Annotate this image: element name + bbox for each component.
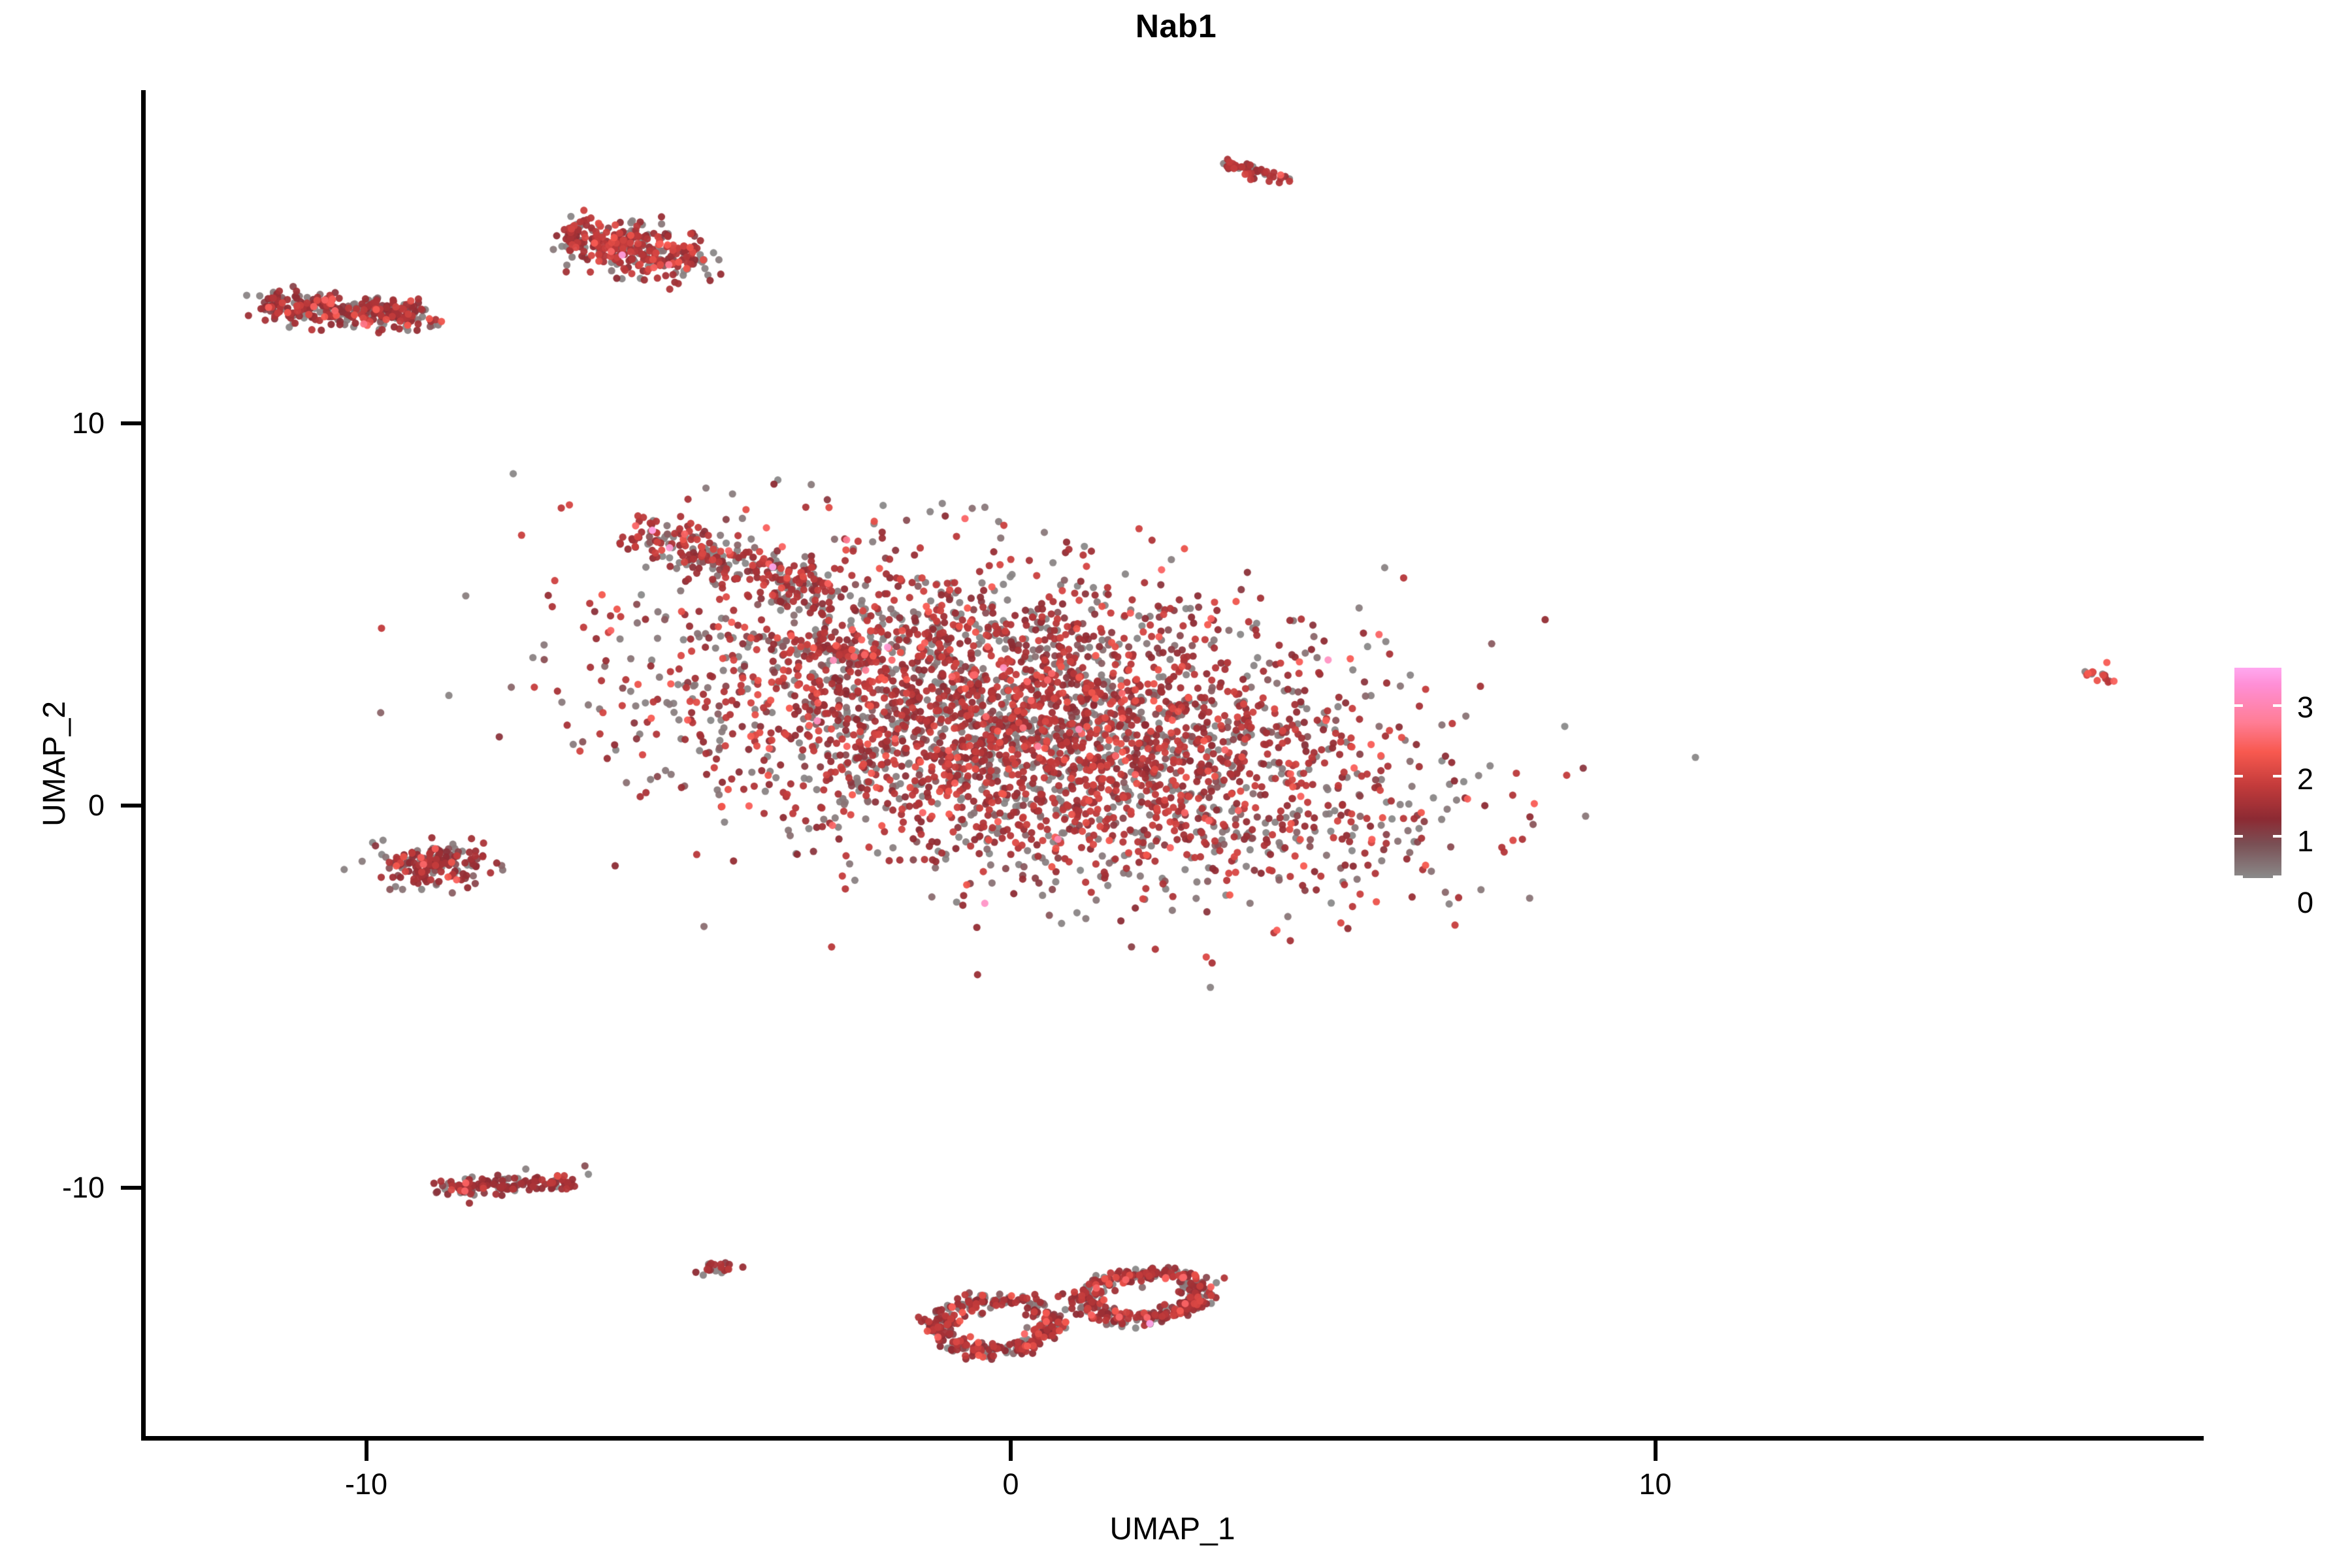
x-axis-tick-neg10 [365, 1441, 368, 1461]
x-axis-tick-10 [1654, 1441, 1658, 1461]
legend-gradient-bar [2234, 668, 2281, 878]
y-axis-line [141, 90, 146, 1440]
legend-tick-0-right [2273, 875, 2281, 878]
y-axis-tick-neg10 [121, 1186, 141, 1190]
y-axis-tick-10 [121, 421, 141, 425]
x-axis-ticklabel-neg10: -10 [301, 1467, 432, 1501]
legend-tick-1-left [2234, 835, 2243, 838]
legend-tick-0-left [2234, 875, 2243, 878]
x-axis-ticklabel-10: 10 [1590, 1467, 1721, 1501]
legend-label-1: 1 [2297, 826, 2313, 856]
plot-panel [145, 90, 2203, 1440]
x-axis-ticklabel-0: 0 [945, 1467, 1076, 1501]
legend-tick-1-right [2273, 835, 2281, 838]
legend-tick-2-left [2234, 775, 2243, 777]
legend-tick-3-right [2273, 704, 2281, 707]
y-axis-tick-0 [121, 804, 141, 808]
legend-label-2: 2 [2297, 764, 2313, 794]
umap-feature-plot: Nab1 10 0 -10 -10 0 10 UMAP_1 UMAP_2 3 2… [0, 0, 2352, 1568]
page-title: Nab1 [0, 5, 2352, 47]
legend-tick-2-right [2273, 775, 2281, 777]
legend-label-0: 0 [2297, 888, 2313, 917]
x-axis-title: UMAP_1 [141, 1511, 2204, 1548]
x-axis-line [141, 1436, 2204, 1441]
y-axis-title: UMAP_2 [36, 502, 74, 1025]
y-axis-ticklabel-neg10: -10 [0, 1173, 105, 1202]
legend-colorbar: 3 2 1 0 [2234, 668, 2345, 883]
legend-label-3: 3 [2297, 693, 2313, 722]
x-axis-tick-0 [1009, 1441, 1013, 1461]
scatter-plot-canvas [145, 90, 2203, 1440]
legend-tick-3-left [2234, 704, 2243, 707]
y-axis-ticklabel-10: 10 [0, 408, 105, 438]
